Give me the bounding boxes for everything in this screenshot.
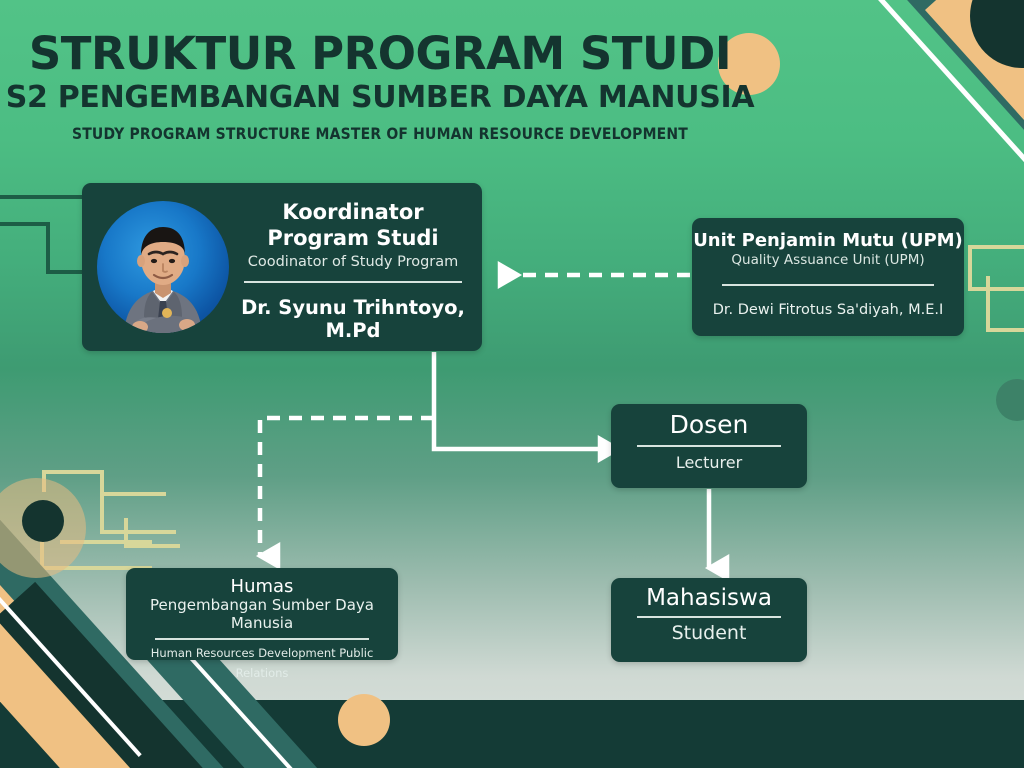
mahasiswa-subtitle: Student: [611, 622, 807, 644]
portrait-illustration: [97, 201, 229, 333]
upm-person-name: Dr. Dewi Fitrotus Sa'diyah, M.E.I: [692, 302, 964, 318]
mahasiswa-divider: [637, 616, 781, 618]
dosen-title: Dosen: [611, 410, 807, 439]
coordinator-avatar: [97, 201, 229, 333]
mahasiswa-title: Mahasiswa: [611, 585, 807, 611]
dosen-divider: [637, 445, 781, 447]
humas-divider: [155, 638, 369, 640]
humas-subtitle: Pengembangan Sumber Daya Manusia: [126, 596, 398, 632]
upm-title: Unit Penjamin Mutu (UPM): [692, 230, 964, 251]
card-coordinator[interactable]: Koordinator Program Studi Coodinator of …: [82, 183, 482, 351]
humas-title: Humas: [126, 576, 398, 597]
poster-canvas: STRUKTUR PROGRAM STUDI S2 PENGEMBANGAN S…: [0, 0, 1024, 768]
coordinator-name: Dr. Syunu Trihntoyo, M.Pd: [234, 296, 472, 342]
humas-english-line1: Human Resources Development Public: [126, 646, 398, 660]
coordinator-text-block: Koordinator Program Studi Coodinator of …: [234, 199, 472, 342]
card-dosen[interactable]: Dosen Lecturer: [611, 404, 807, 488]
upm-subtitle: Quality Assuance Unit (UPM): [692, 252, 964, 268]
connector-coordinator-to-humas: [260, 418, 434, 556]
card-humas[interactable]: Humas Pengembangan Sumber Daya Manusia H…: [126, 568, 398, 660]
connector-coordinator-to-dosen: [434, 352, 600, 449]
upm-divider: [722, 284, 934, 286]
dosen-subtitle: Lecturer: [611, 453, 807, 472]
card-upm[interactable]: Unit Penjamin Mutu (UPM) Quality Assuanc…: [692, 218, 964, 336]
card-mahasiswa[interactable]: Mahasiswa Student: [611, 578, 807, 662]
coordinator-role-english: Coodinator of Study Program: [234, 254, 472, 270]
humas-english-line2: Relations: [126, 666, 398, 680]
coordinator-role-line1: Koordinator: [234, 199, 472, 225]
coordinator-divider: [244, 281, 462, 283]
coordinator-role-line2: Program Studi: [234, 225, 472, 251]
